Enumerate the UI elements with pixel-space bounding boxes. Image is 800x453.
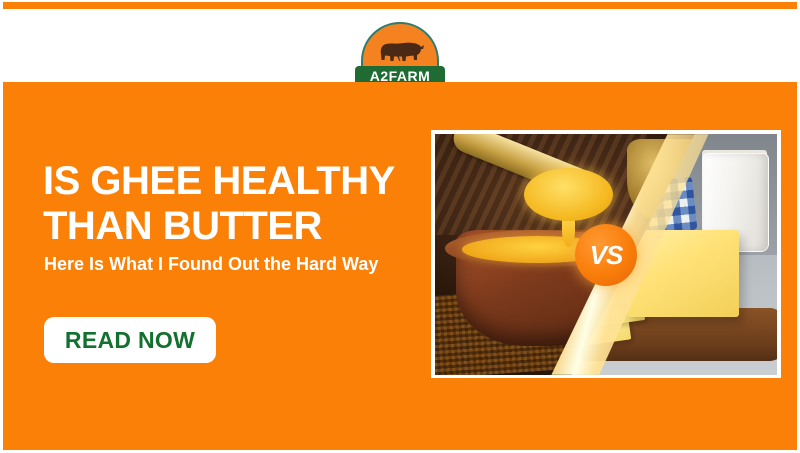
ghee-scoop xyxy=(524,168,613,221)
versus-badge-label: VS xyxy=(590,242,623,268)
page-title: IS GHEE HEALTHY THAN BUTTER xyxy=(43,159,423,249)
read-now-button[interactable]: READ NOW xyxy=(44,317,216,363)
cow-logo-icon xyxy=(377,34,427,64)
bottom-accent-strip xyxy=(3,378,797,450)
promo-banner: A2FARM IS GHEE HEALTHY THAN BUTTER Here … xyxy=(0,0,800,453)
brand-logo[interactable]: A2FARM xyxy=(355,22,445,86)
hero-image: VS xyxy=(435,134,777,375)
header-band: A2FARM xyxy=(0,9,800,82)
hero-image-frame: VS xyxy=(431,130,781,379)
page-subtitle: Here Is What I Found Out the Hard Way xyxy=(44,252,389,276)
read-now-button-label: READ NOW xyxy=(65,327,195,354)
top-accent-strip xyxy=(3,2,797,9)
versus-badge: VS xyxy=(575,224,637,286)
logo-brand-name: A2FARM xyxy=(370,69,431,83)
